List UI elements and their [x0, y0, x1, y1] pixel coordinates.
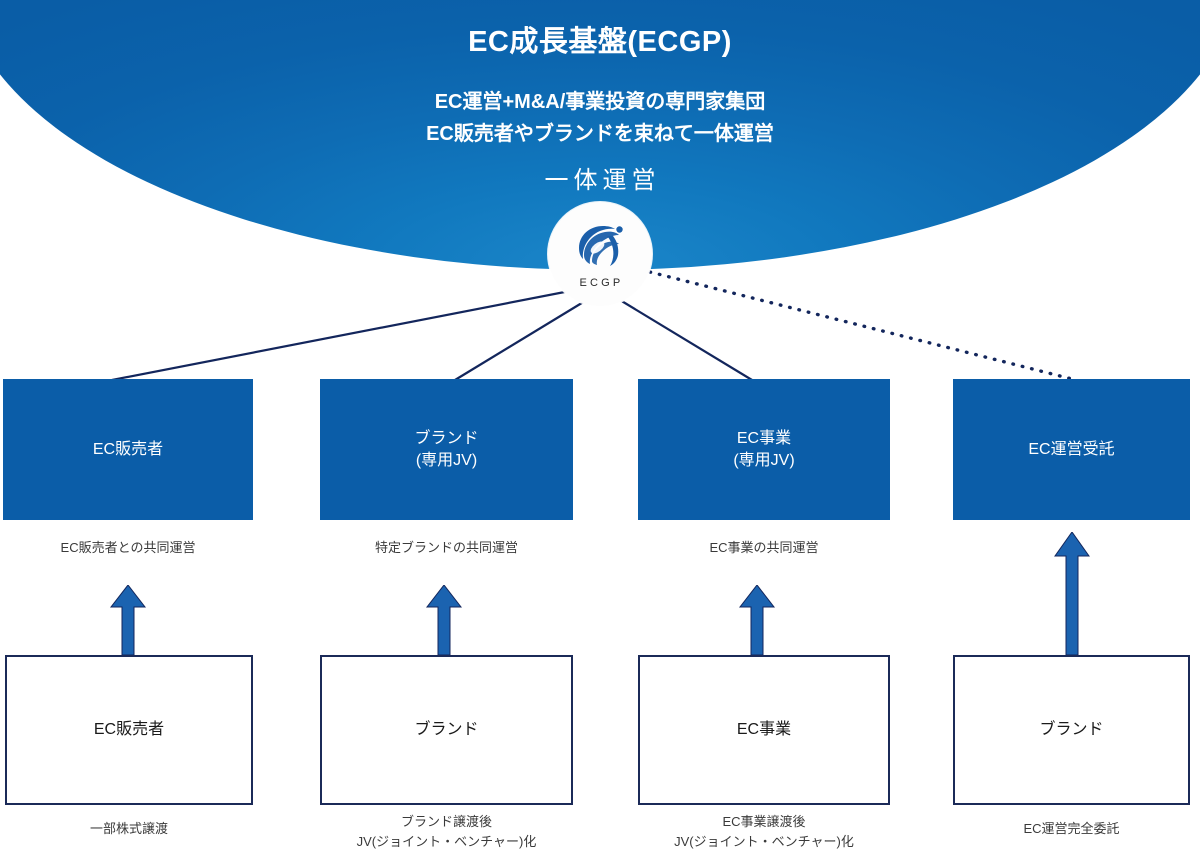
header-subtitle-line-2: EC販売者やブランドを束ねて一体運営	[0, 117, 1200, 146]
arrow-up-col3	[737, 585, 777, 655]
bottom-box-col4-label: ブランド	[1039, 719, 1103, 741]
ecgp-logo-badge: ECGP	[548, 202, 652, 306]
connector-line-col1	[112, 290, 575, 380]
top-box-col2-label-line-2: (専用JV)	[416, 452, 477, 469]
bottom-box-col2[interactable]: ブランド	[320, 655, 573, 805]
top-box-col3-label-line-2: (専用JV)	[733, 452, 794, 469]
mid-caption-col3-text: EC事業の共同運営	[709, 540, 818, 555]
bottom-box-col1[interactable]: EC販売者	[5, 655, 253, 805]
mid-caption-col1: EC販売者との共同運営	[3, 539, 253, 558]
bottom-caption-col2-line-2: JV(ジョイント・ベンチャー)化	[310, 832, 583, 852]
top-box-col3[interactable]: EC事業 (専用JV)	[638, 379, 890, 520]
connector-line-col3	[615, 297, 752, 380]
header-tagline: 一体運営	[0, 160, 1200, 195]
bottom-box-col4[interactable]: ブランド	[953, 655, 1190, 805]
diagram-canvas: EC成長基盤(ECGP) EC運営+M&A/事業投資の専門家集団 EC販売者やブ…	[0, 0, 1200, 858]
connector-line-col2	[455, 298, 590, 380]
mid-caption-col3: EC事業の共同運営	[638, 539, 890, 558]
connector-line-col4-dotted	[650, 272, 1072, 379]
arrow-up-col4	[1052, 532, 1092, 655]
bottom-box-col2-label: ブランド	[414, 719, 478, 741]
arrow-up-col2	[424, 585, 464, 655]
bottom-caption-col2: ブランド譲渡後 JV(ジョイント・ベンチャー)化	[310, 812, 583, 851]
top-box-col2-label-line-1: ブランド	[414, 430, 478, 447]
bottom-caption-col3-line-2: JV(ジョイント・ベンチャー)化	[628, 832, 900, 852]
bottom-caption-col4: EC運営完全委託	[953, 819, 1190, 839]
bottom-caption-col4-line-1: EC運営完全委託	[953, 819, 1190, 839]
bottom-box-col3-label: EC事業	[737, 719, 791, 741]
bottom-box-col1-label: EC販売者	[94, 719, 164, 741]
bottom-caption-col3-line-1: EC事業譲渡後	[628, 812, 900, 832]
top-box-col2[interactable]: ブランド (専用JV)	[320, 379, 573, 520]
top-box-col1-label: EC販売者	[93, 439, 163, 461]
mid-caption-col2-text: 特定ブランドの共同運営	[375, 540, 518, 555]
bottom-box-col3[interactable]: EC事業	[638, 655, 890, 805]
ecgp-globe-swoosh-logo-icon	[573, 222, 627, 268]
top-box-col3-label: EC事業 (専用JV)	[733, 428, 794, 471]
top-box-col3-label-line-1: EC事業	[737, 430, 791, 447]
mid-caption-col1-text: EC販売者との共同運営	[61, 540, 196, 555]
page-title: EC成長基盤(ECGP)	[0, 18, 1200, 60]
top-box-col4-label: EC運営受託	[1028, 439, 1114, 461]
bottom-caption-col1: 一部株式譲渡	[5, 819, 253, 839]
bottom-caption-col1-line-1: 一部株式譲渡	[5, 819, 253, 839]
bottom-caption-col3: EC事業譲渡後 JV(ジョイント・ベンチャー)化	[628, 812, 900, 851]
top-box-col2-label: ブランド (専用JV)	[414, 428, 478, 471]
top-box-col1[interactable]: EC販売者	[3, 379, 253, 520]
ecgp-logo-wordmark: ECGP	[548, 277, 652, 289]
mid-caption-col2: 特定ブランドの共同運営	[320, 539, 573, 558]
header-subtitle-line-1: EC運営+M&A/事業投資の専門家集団	[0, 85, 1200, 114]
top-box-col4[interactable]: EC運営受託	[953, 379, 1190, 520]
arrow-up-col1	[108, 585, 148, 655]
bottom-caption-col2-line-1: ブランド譲渡後	[310, 812, 583, 832]
